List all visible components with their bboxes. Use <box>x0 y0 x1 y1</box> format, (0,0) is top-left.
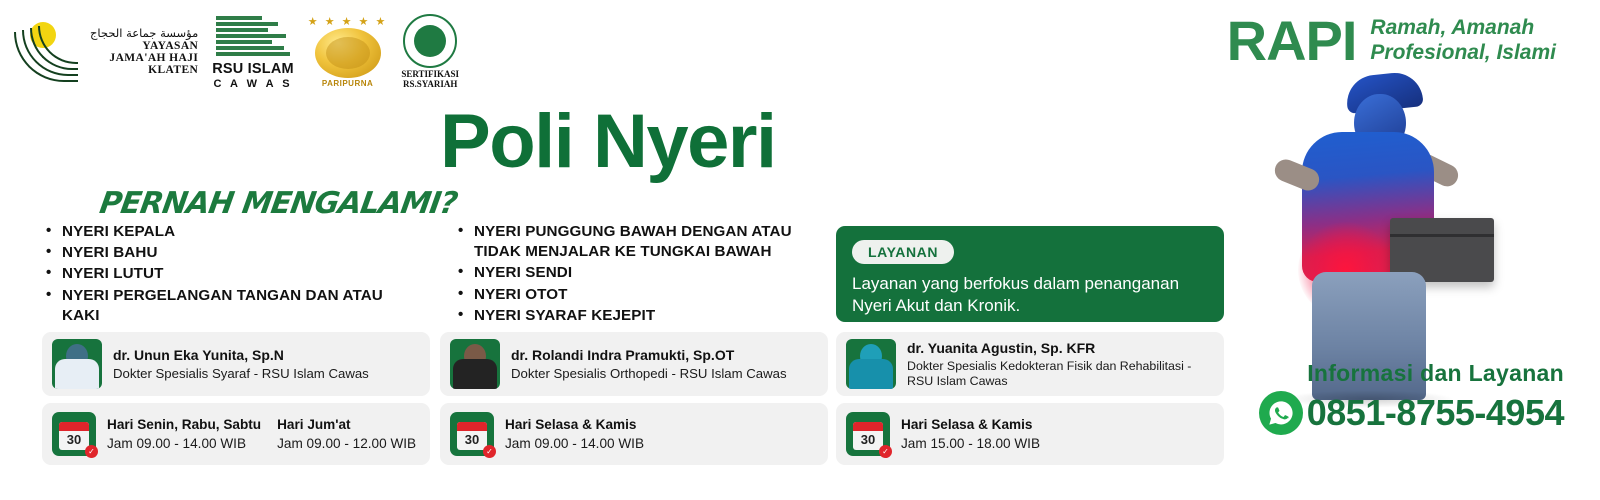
calendar-check-badge-icon: ✓ <box>483 445 496 458</box>
symptom-item: NYERI BAHU <box>62 243 400 263</box>
rsu-name: RSU ISLAM <box>212 61 294 77</box>
logo-bar: مؤسسة جماعة الحجاج YAYASAN JAMA'AH HAJI … <box>10 14 459 90</box>
symptom-item: NYERI SENDI <box>474 263 822 283</box>
symptoms-column-left: NYERI KEPALA NYERI BAHU NYERI LUTUT NYER… <box>40 222 400 327</box>
schedule-card[interactable]: 30 ✓ Hari Selasa & Kamis Jam 15.00 - 18.… <box>836 403 1224 465</box>
doctor-column-2: dr. Rolandi Indra Pramukti, Sp.OT Dokter… <box>440 332 828 465</box>
doctor-name: dr. Yuanita Agustin, Sp. KFR <box>907 340 1214 356</box>
poli-nyeri-banner: مؤسسة جماعة الحجاج YAYASAN JAMA'AH HAJI … <box>0 0 1600 500</box>
doctor-role: Dokter Spesialis Syaraf - RSU Islam Cawa… <box>113 366 369 382</box>
doctor-column-1: dr. Unun Eka Yunita, Sp.N Dokter Spesial… <box>42 332 430 465</box>
schedule-entry: Hari Selasa & Kamis Jam 09.00 - 14.00 WI… <box>505 417 644 451</box>
calendar-day: 30 <box>465 433 479 446</box>
calendar-day: 30 <box>67 433 81 446</box>
schedule-entry: Hari Jum'at Jam 09.00 - 12.00 WIB <box>277 417 416 451</box>
schedule-time: Jam 15.00 - 18.00 WIB <box>901 436 1040 451</box>
symptom-item: NYERI LUTUT <box>62 264 400 284</box>
yjhk-emblem-icon <box>10 16 84 88</box>
calendar-header <box>853 422 883 431</box>
symptom-item: NYERI SYARAF KEJEPIT <box>474 306 822 326</box>
schedule-card[interactable]: 30 ✓ Hari Senin, Rabu, Sabtu Jam 09.00 -… <box>42 403 430 465</box>
whatsapp-icon[interactable] <box>1259 391 1303 435</box>
yjhk-wordmark: مؤسسة جماعة الحجاج YAYASAN JAMA'AH HAJI … <box>90 28 198 77</box>
schedule-day: Hari Selasa & Kamis <box>901 417 1040 432</box>
yjhk-line-3: KLATEN <box>148 65 198 77</box>
schedule-entry: Hari Selasa & Kamis Jam 15.00 - 18.00 WI… <box>901 417 1040 451</box>
doctor-name: dr. Rolandi Indra Pramukti, Sp.OT <box>511 347 787 363</box>
rapi-branding: RAPI Ramah, Amanah Profesional, Islami <box>1227 16 1556 66</box>
doctor-card[interactable]: dr. Yuanita Agustin, Sp. KFR Dokter Spes… <box>836 332 1224 396</box>
doctor-avatar <box>450 339 500 389</box>
service-description: Layanan yang berfokus dalam penanganan N… <box>852 273 1208 318</box>
schedule-day: Hari Jum'at <box>277 417 416 432</box>
calendar-icon: 30 ✓ <box>52 412 96 456</box>
contact-title: Informasi dan Layanan <box>1259 360 1564 387</box>
doctor-avatar <box>846 339 896 389</box>
paripurna-caption: PARIPURNA <box>322 79 373 88</box>
schedule-entry: Hari Senin, Rabu, Sabtu Jam 09.00 - 14.0… <box>107 417 261 451</box>
doctor-column-3: dr. Yuanita Agustin, Sp. KFR Dokter Spes… <box>836 332 1224 465</box>
calendar-icon: 30 ✓ <box>450 412 494 456</box>
gold-seal-icon <box>315 28 381 78</box>
doctor-avatar <box>52 339 102 389</box>
yayasan-jamaah-haji-klaten-logo: مؤسسة جماعة الحجاج YAYASAN JAMA'AH HAJI … <box>10 16 198 88</box>
doctor-role: Dokter Spesialis Orthopedi - RSU Islam C… <box>511 366 787 382</box>
yjhk-arabic-text: مؤسسة جماعة الحجاج <box>90 28 198 40</box>
avatar-body <box>453 359 497 389</box>
symptom-item: NYERI PERGELANGAN TANGAN DAN ATAU KAKI <box>62 286 400 326</box>
schedule-time: Jam 09.00 - 14.00 WIB <box>505 436 644 451</box>
symptoms-column-right: NYERI PUNGGUNG BAWAH DENGAN ATAU TIDAK M… <box>452 222 822 327</box>
service-box: LAYANAN Layanan yang berfokus dalam pena… <box>836 226 1224 322</box>
rapi-tagline-line-2: Profesional, Islami <box>1370 41 1556 66</box>
doctor-name: dr. Unun Eka Yunita, Sp.N <box>113 347 369 363</box>
calendar-header <box>457 422 487 431</box>
schedule-time: Jam 09.00 - 12.00 WIB <box>277 436 416 451</box>
avatar-body <box>55 359 99 389</box>
calendar-day: 30 <box>861 433 875 446</box>
rsu-city: C A W A S <box>213 78 292 90</box>
rapi-tagline-line-1: Ramah, Amanah <box>1370 16 1556 41</box>
calendar-icon: 30 ✓ <box>846 412 890 456</box>
rsu-islam-cawas-logo: RSU ISLAM C A W A S <box>212 14 294 90</box>
doctor-role: Dokter Spesialis Kedokteran Fisik dan Re… <box>907 359 1214 389</box>
calendar-check-badge-icon: ✓ <box>879 445 892 458</box>
symptom-item: NYERI OTOT <box>474 285 822 305</box>
symptom-item: NYERI PUNGGUNG BAWAH DENGAN ATAU TIDAK M… <box>474 222 822 262</box>
doctor-card[interactable]: dr. Unun Eka Yunita, Sp.N Dokter Spesial… <box>42 332 430 396</box>
schedule-day: Hari Senin, Rabu, Sabtu <box>107 417 261 432</box>
rsu-building-icon <box>216 14 290 60</box>
syariah-seal-icon <box>403 14 457 68</box>
rapi-wordmark: RAPI <box>1227 16 1357 66</box>
paripurna-accreditation-logo: ★ ★ ★ ★ ★ PARIPURNA <box>308 17 388 88</box>
yjhk-line-2: JAMA'AH HAJI <box>109 53 198 65</box>
gold-seal-inner <box>326 37 370 69</box>
stars-icon: ★ ★ ★ ★ ★ <box>308 17 388 28</box>
service-badge: LAYANAN <box>852 240 954 264</box>
calendar-check-badge-icon: ✓ <box>85 445 98 458</box>
symptoms-heading: PERNAH MENGALAMI? <box>97 186 459 221</box>
syariah-line-2: RS.SYARIAH <box>401 80 459 90</box>
contact-phone[interactable]: 0851-8755-4954 <box>1307 392 1564 434</box>
rapi-tagline: Ramah, Amanah Profesional, Islami <box>1370 16 1556 66</box>
avatar-body <box>849 359 893 389</box>
symptom-item: NYERI KEPALA <box>62 222 400 242</box>
doctor-card[interactable]: dr. Rolandi Indra Pramukti, Sp.OT Dokter… <box>440 332 828 396</box>
sertifikasi-rs-syariah-logo: SERTIFIKASI RS.SYARIAH <box>401 14 459 90</box>
contact-section: Informasi dan Layanan 0851-8755-4954 <box>1259 360 1564 435</box>
schedule-card[interactable]: 30 ✓ Hari Selasa & Kamis Jam 09.00 - 14.… <box>440 403 828 465</box>
schedule-day: Hari Selasa & Kamis <box>505 417 644 432</box>
back-pain-person-illustration <box>1250 72 1480 402</box>
page-title: Poli Nyeri <box>440 104 776 180</box>
syariah-seal-core <box>414 25 446 57</box>
schedule-time: Jam 09.00 - 14.00 WIB <box>107 436 261 451</box>
calendar-header <box>59 422 89 431</box>
